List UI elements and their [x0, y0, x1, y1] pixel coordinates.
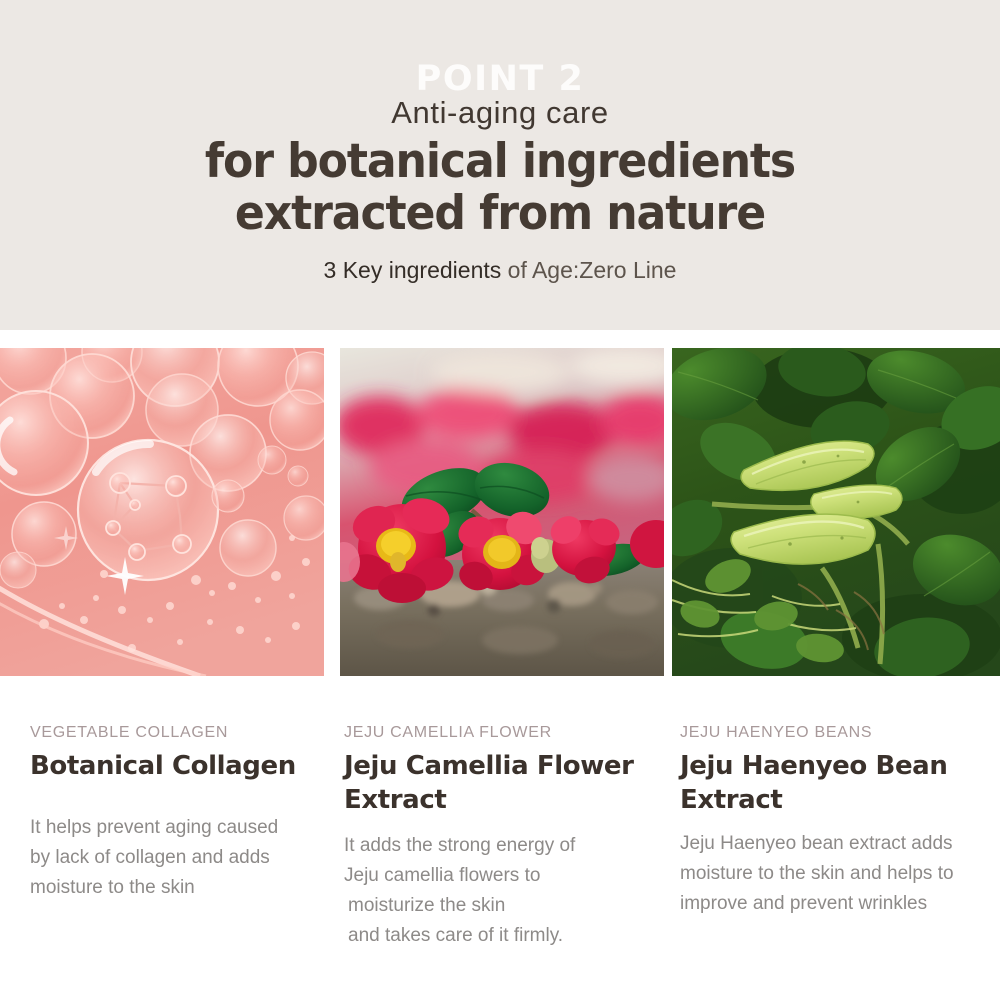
ingredient-body-3: Jeju Haenyeo bean extract adds moisture … [680, 829, 990, 919]
ingredient-title-3: Jeju Haenyeo Bean Extract [680, 749, 990, 817]
ingredient-title-line: Jeju Camellia [344, 751, 528, 781]
ingredient-description-row: VEGETABLE COLLAGEN Botanical Collagen It… [0, 722, 1000, 1000]
collagen-bubbles-illustration [0, 348, 324, 676]
body-line: by lack of collagen and adds [30, 843, 330, 873]
header-subtitle-top: Anti-aging care [0, 94, 1000, 132]
body-line: moisture to the skin and helps to [680, 859, 990, 889]
ingredient-eyebrow-1: VEGETABLE COLLAGEN [30, 722, 330, 744]
key-ingredients-count: 3 Key ingredients [324, 257, 502, 283]
ingredient-image-jeju-haenyeo-beans [672, 348, 1000, 676]
ingredient-eyebrow-2: JEJU CAMELLIA FLOWER [344, 722, 644, 744]
page-headline: for botanical ingredients extracted from… [0, 136, 1000, 240]
ingredient-image-row [0, 348, 1000, 676]
ingredient-title-line: Jeju Haenyeo [680, 751, 867, 781]
line-name-label: of Age:Zero Line [501, 257, 676, 283]
body-line: Jeju camellia flowers to [344, 861, 644, 891]
ingredient-title-line: Botanical Collagen [30, 751, 296, 781]
ingredient-column-jeju-haenyeo-beans: JEJU HAENYEO BEANS Jeju Haenyeo Bean Ext… [680, 722, 990, 919]
body-line: Jeju Haenyeo bean extract adds [680, 829, 990, 859]
bean-pods-photo [672, 348, 1000, 676]
ingredient-title-2: Jeju Camellia Flower Extract [344, 749, 644, 817]
ingredient-body-1: It helps prevent aging caused by lack of… [30, 813, 330, 903]
product-ingredients-page: POINT 2 Anti-aging care for botanical in… [0, 0, 1000, 1000]
ingredient-title-1: Botanical Collagen [30, 749, 330, 783]
ingredient-image-vegetable-collagen [0, 348, 324, 676]
body-line: moisturize the skin [344, 891, 644, 921]
headline-line-2: extracted from nature [30, 188, 970, 240]
header-band: POINT 2 Anti-aging care for botanical in… [0, 0, 1000, 330]
ingredient-column-vegetable-collagen: VEGETABLE COLLAGEN Botanical Collagen It… [30, 722, 330, 903]
body-line: and takes care of it firmly. [344, 921, 644, 951]
camellia-flower-photo [340, 348, 664, 676]
ingredient-eyebrow-3: JEJU HAENYEO BEANS [680, 722, 990, 744]
ingredient-image-jeju-camellia [340, 348, 664, 676]
body-line: It helps prevent aging caused [30, 813, 330, 843]
header-subtitle-bottom: 3 Key ingredients of Age:Zero Line [0, 256, 1000, 284]
body-line: It adds the strong energy of [344, 831, 644, 861]
body-line: moisture to the skin [30, 873, 330, 903]
body-line: improve and prevent wrinkles [680, 889, 990, 919]
ingredient-body-2: It adds the strong energy of Jeju camell… [344, 831, 644, 951]
ingredient-column-jeju-camellia: JEJU CAMELLIA FLOWER Jeju Camellia Flowe… [344, 722, 644, 951]
headline-line-1: for botanical ingredients [30, 136, 970, 188]
